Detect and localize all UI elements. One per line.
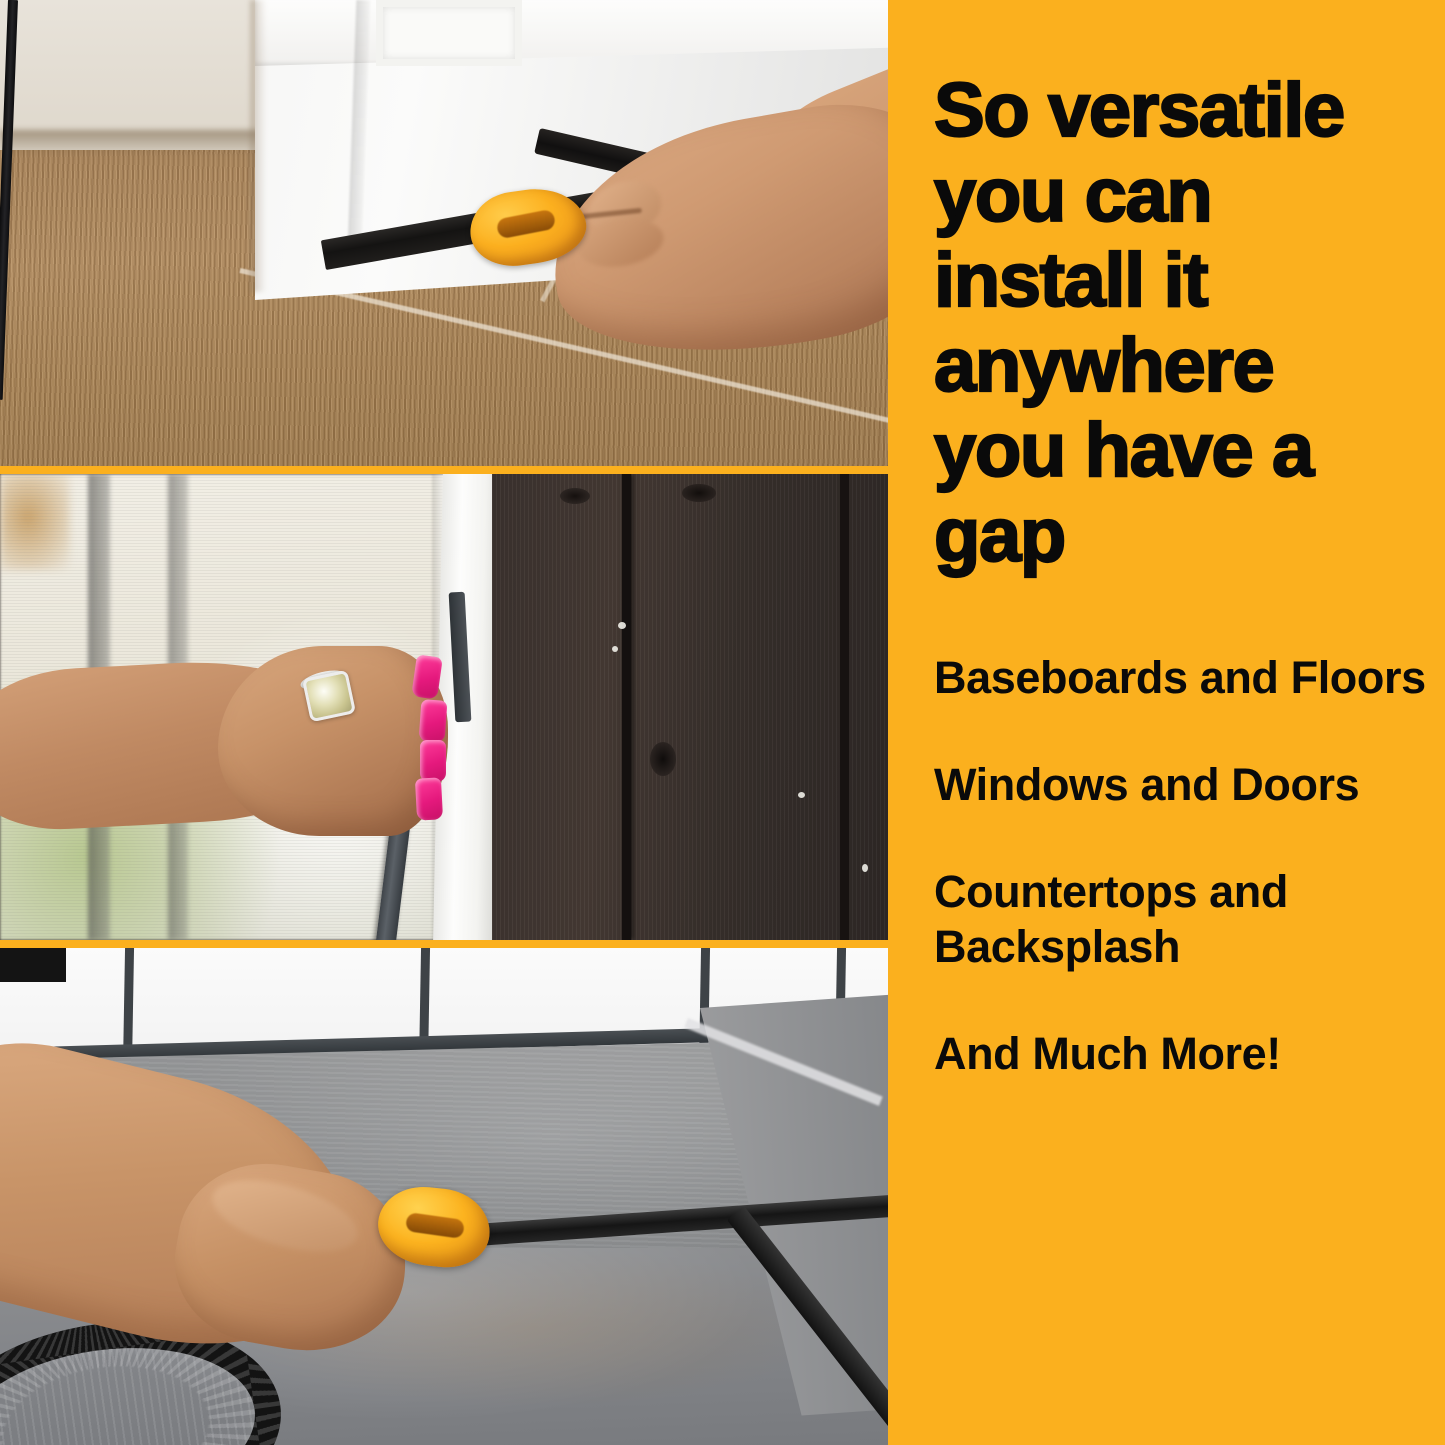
diamond-ring [302,670,356,723]
paint-speck [798,792,805,798]
photo-countertop-backsplash [0,948,888,1445]
feature-list: Baseboards and Floors Windows and Doors … [934,650,1429,1081]
door-panel-molding [376,0,522,66]
photo-column [0,0,888,1445]
pink-fingernail [419,699,448,743]
siding-plank-gap [622,474,631,940]
paint-speck [618,622,626,629]
wood-knot [650,742,676,776]
wood-knot [560,488,590,504]
siding-plank-gap [840,474,849,940]
feature-item-baseboards-and-floors: Baseboards and Floors [934,650,1429,705]
panel-divider [0,466,888,474]
paint-speck [862,864,868,872]
pink-fingernail [415,777,443,820]
pink-fingernail [420,740,446,782]
panel-divider [0,940,888,948]
product-feature-panel: So versatile you can install it anywhere… [0,0,1445,1445]
paint-speck [612,646,618,652]
wall-corner-shadow [250,0,266,292]
photo-baseboard-floor [0,0,888,466]
feature-item-countertops-and-backsplash: Countertops and Backsplash [934,864,1429,974]
dark-wood-siding [492,474,888,940]
photo-window-door [0,474,888,940]
feature-item-windows-and-doors: Windows and Doors [934,757,1429,812]
dark-object-top-left [0,948,66,982]
headline: So versatile you can install it anywhere… [934,68,1414,578]
text-column: So versatile you can install it anywhere… [888,0,1445,1445]
wood-knot [682,484,716,502]
feature-item-and-much-more: And Much More! [934,1026,1429,1081]
